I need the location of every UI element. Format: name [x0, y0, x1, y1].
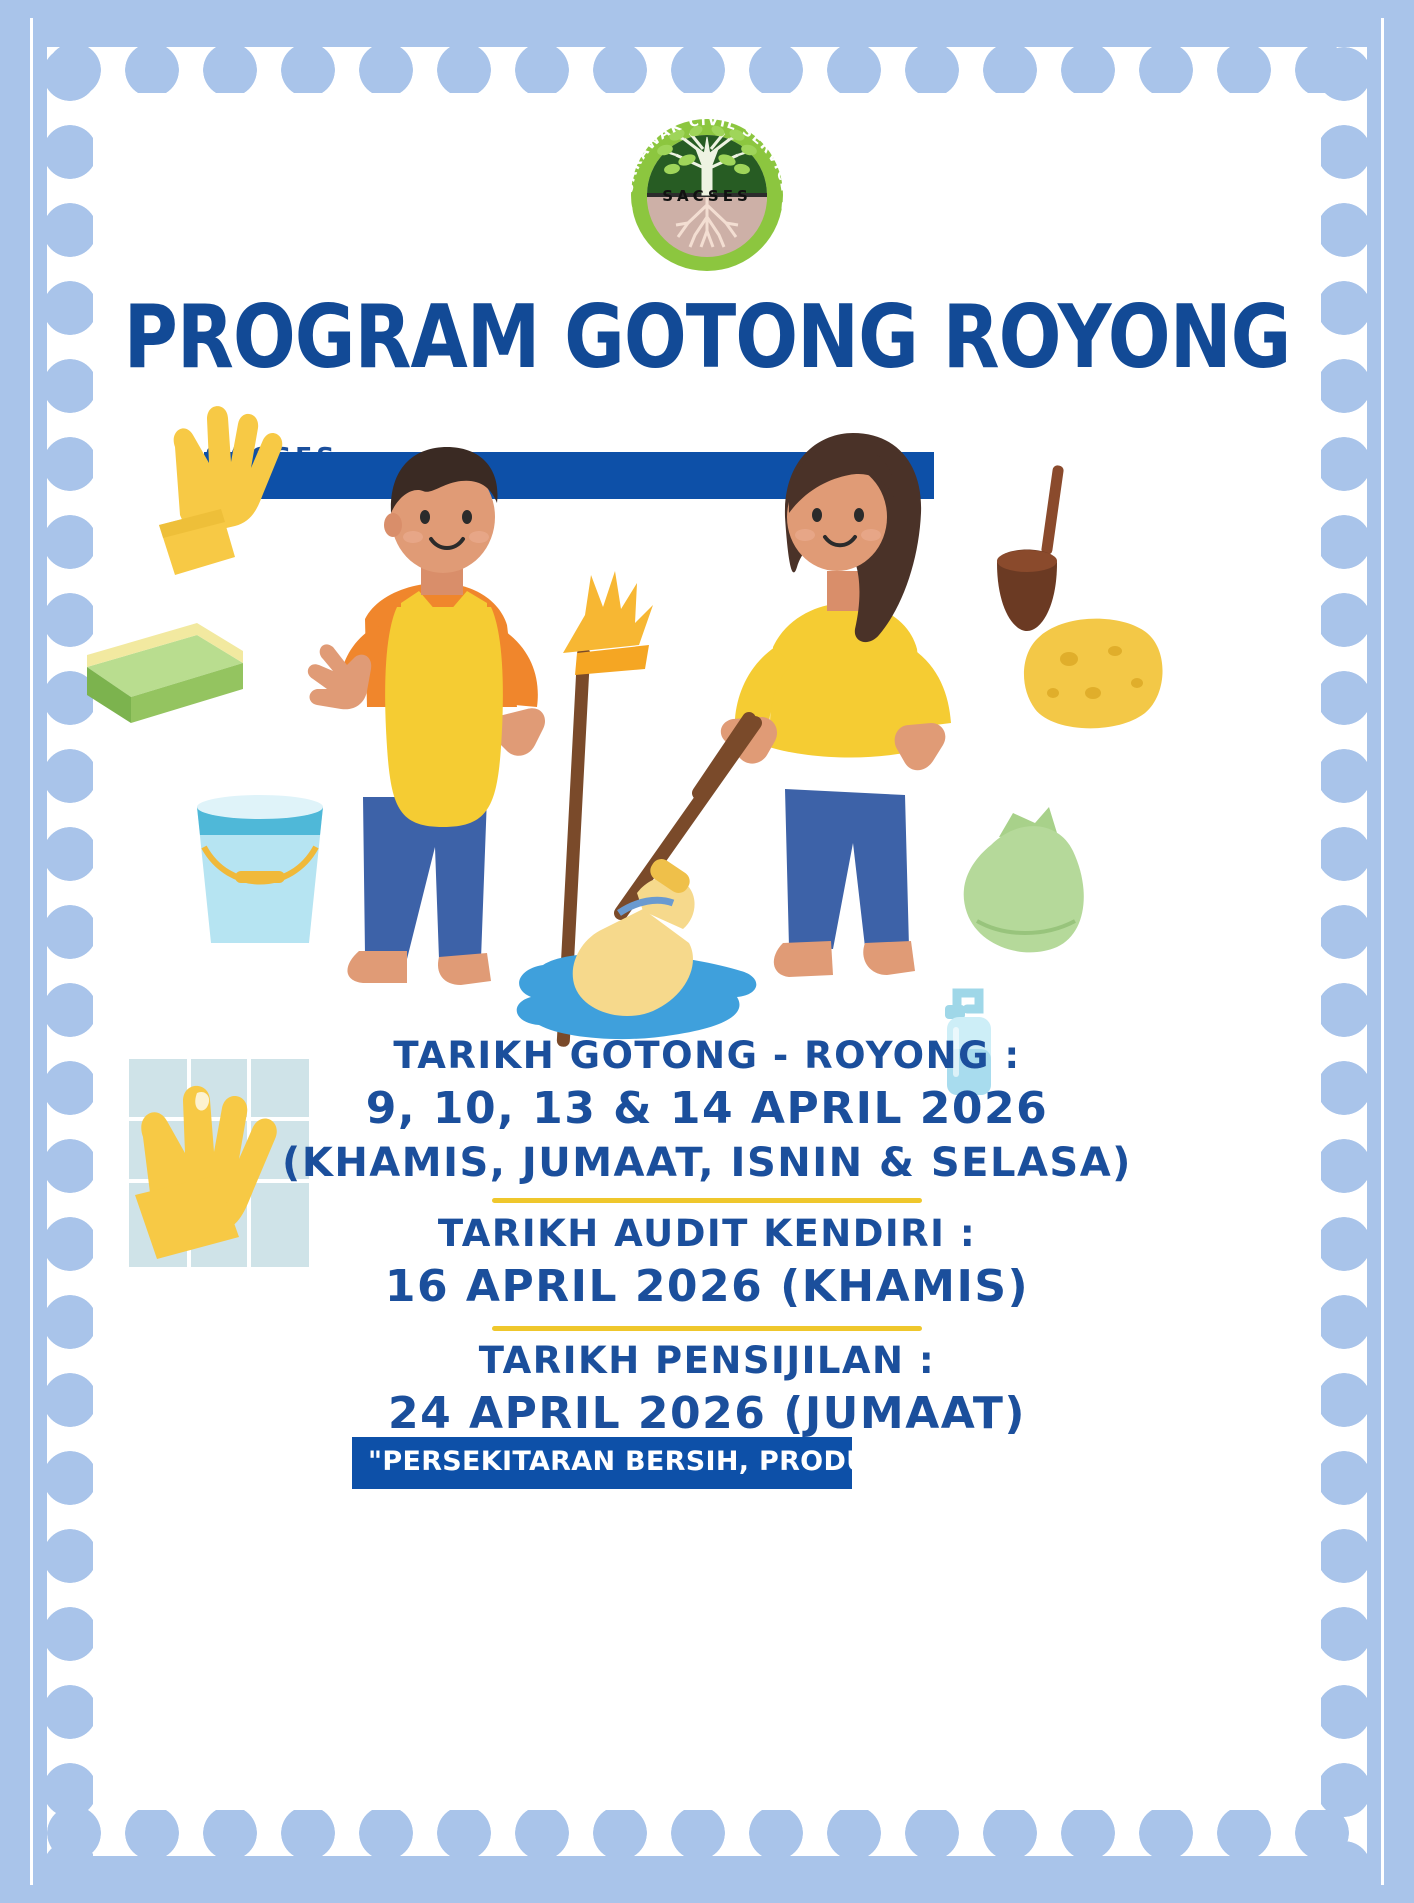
sacses-logo: SARAWAK CIVIL SERVICE ENVIRONMENTAL STAN… [592, 105, 822, 275]
yellow-sponge-icon [1024, 619, 1163, 729]
svg-text:SACSES: SACSES [662, 187, 752, 205]
divider-2 [492, 1326, 922, 1331]
sacses-logo-icon: SARAWAK CIVIL SERVICE ENVIRONMENTAL STAN… [592, 105, 822, 275]
page-title: PROGRAM GOTONG ROYONG [47, 287, 1367, 388]
boy-with-broom-icon [308, 447, 653, 1047]
blue-bucket-icon [197, 795, 323, 943]
pensijilan-heading: TARIKH PENSIJILAN : [47, 1337, 1367, 1385]
poster-content: SARAWAK CIVIL SERVICE ENVIRONMENTAL STAN… [47, 47, 1367, 1856]
poster-root: SARAWAK CIVIL SERVICE ENVIRONMENTAL STAN… [0, 0, 1414, 1903]
gotong-royong-heading: TARIKH GOTONG - ROYONG : [47, 1032, 1367, 1080]
green-trash-bag-icon [964, 807, 1084, 952]
slogan-banner: "PERSEKITARAN BERSIH, PRODUKTIVITI MENIN… [352, 1437, 852, 1489]
audit-kendiri-heading: TARIKH AUDIT KENDIRI : [47, 1210, 1367, 1258]
audit-kendiri-date: 16 APRIL 2026 (KHAMIS) [47, 1258, 1367, 1315]
plunger-icon [997, 465, 1064, 631]
gotong-royong-date: 9, 10, 13 & 14 APRIL 2026 [47, 1080, 1367, 1137]
green-sponge-icon [87, 623, 243, 723]
dates-section: TARIKH GOTONG - ROYONG : 9, 10, 13 & 14 … [47, 1032, 1367, 1442]
gotong-royong-days: (KHAMIS, JUMAAT, ISNIN & SELASA) [47, 1137, 1367, 1189]
slogan-text: "PERSEKITARAN BERSIH, PRODUKTIVITI MENIN… [368, 1446, 852, 1477]
divider-1 [492, 1198, 922, 1203]
girl-with-mop-icon [517, 433, 951, 1039]
blue-accent-bar [204, 452, 934, 499]
pensijilan-date: 24 APRIL 2026 (JUMAAT) [47, 1385, 1367, 1442]
